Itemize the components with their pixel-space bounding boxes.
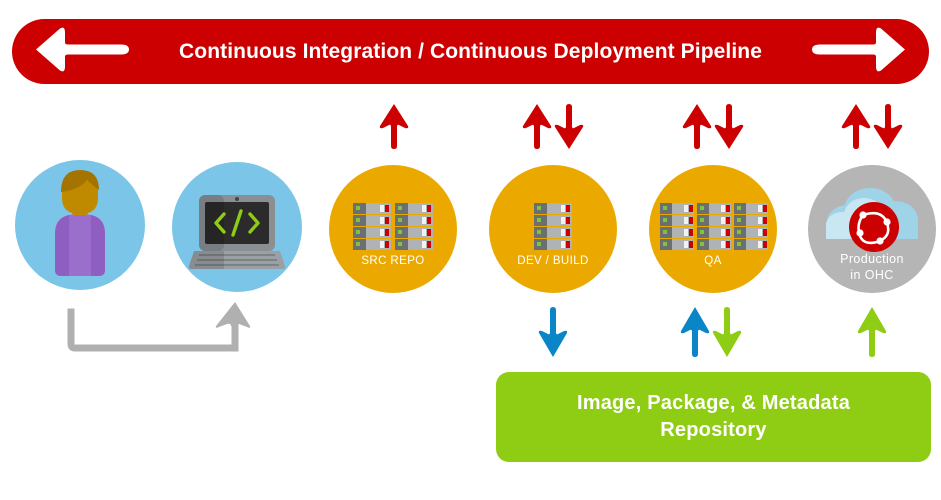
page-title: Continuous Integration / Continuous Depl… — [12, 40, 929, 64]
node-laptop — [172, 162, 302, 292]
arrow-up-qa-from-repo — [679, 306, 711, 363]
person-to-laptop-connector — [55, 300, 265, 365]
node-qa: QA — [649, 165, 777, 293]
node-src-repo: SRC REPO — [329, 165, 457, 293]
arrow-up-qa — [681, 102, 713, 155]
node-label-production-line2: in OHC — [808, 267, 936, 283]
arrow-down-dev-build — [553, 102, 585, 155]
repository-box: Image, Package, & Metadata Repository — [496, 372, 931, 462]
arrow-down-production — [872, 102, 904, 155]
arrow-up-dev-build — [521, 102, 553, 155]
node-dev-build: DEV / BUILD — [489, 165, 617, 293]
arrow-up-production-from-repo — [856, 306, 888, 363]
node-production: Production in OHC — [808, 165, 936, 293]
pipeline-banner: Continuous Integration / Continuous Depl… — [12, 19, 929, 84]
arrow-down-dev-build-to-repo — [537, 306, 569, 363]
arrow-up-production — [840, 102, 872, 155]
node-label-qa: QA — [649, 254, 777, 268]
repository-label: Image, Package, & Metadata Repository — [577, 390, 850, 444]
repository-label-line2: Repository — [577, 417, 850, 444]
repository-label-line1: Image, Package, & Metadata — [577, 390, 850, 417]
arrow-up-src-repo — [378, 102, 410, 155]
arrow-down-qa-to-repo — [711, 306, 743, 363]
node-label-dev-build: DEV / BUILD — [489, 254, 617, 268]
node-developer — [15, 160, 145, 290]
arrow-down-qa — [713, 102, 745, 155]
arrow-right-icon — [811, 26, 907, 77]
node-label-src-repo: SRC REPO — [329, 254, 457, 268]
node-label-production-line1: Production — [808, 251, 936, 267]
diagram-canvas: Continuous Integration / Continuous Depl… — [0, 0, 941, 500]
